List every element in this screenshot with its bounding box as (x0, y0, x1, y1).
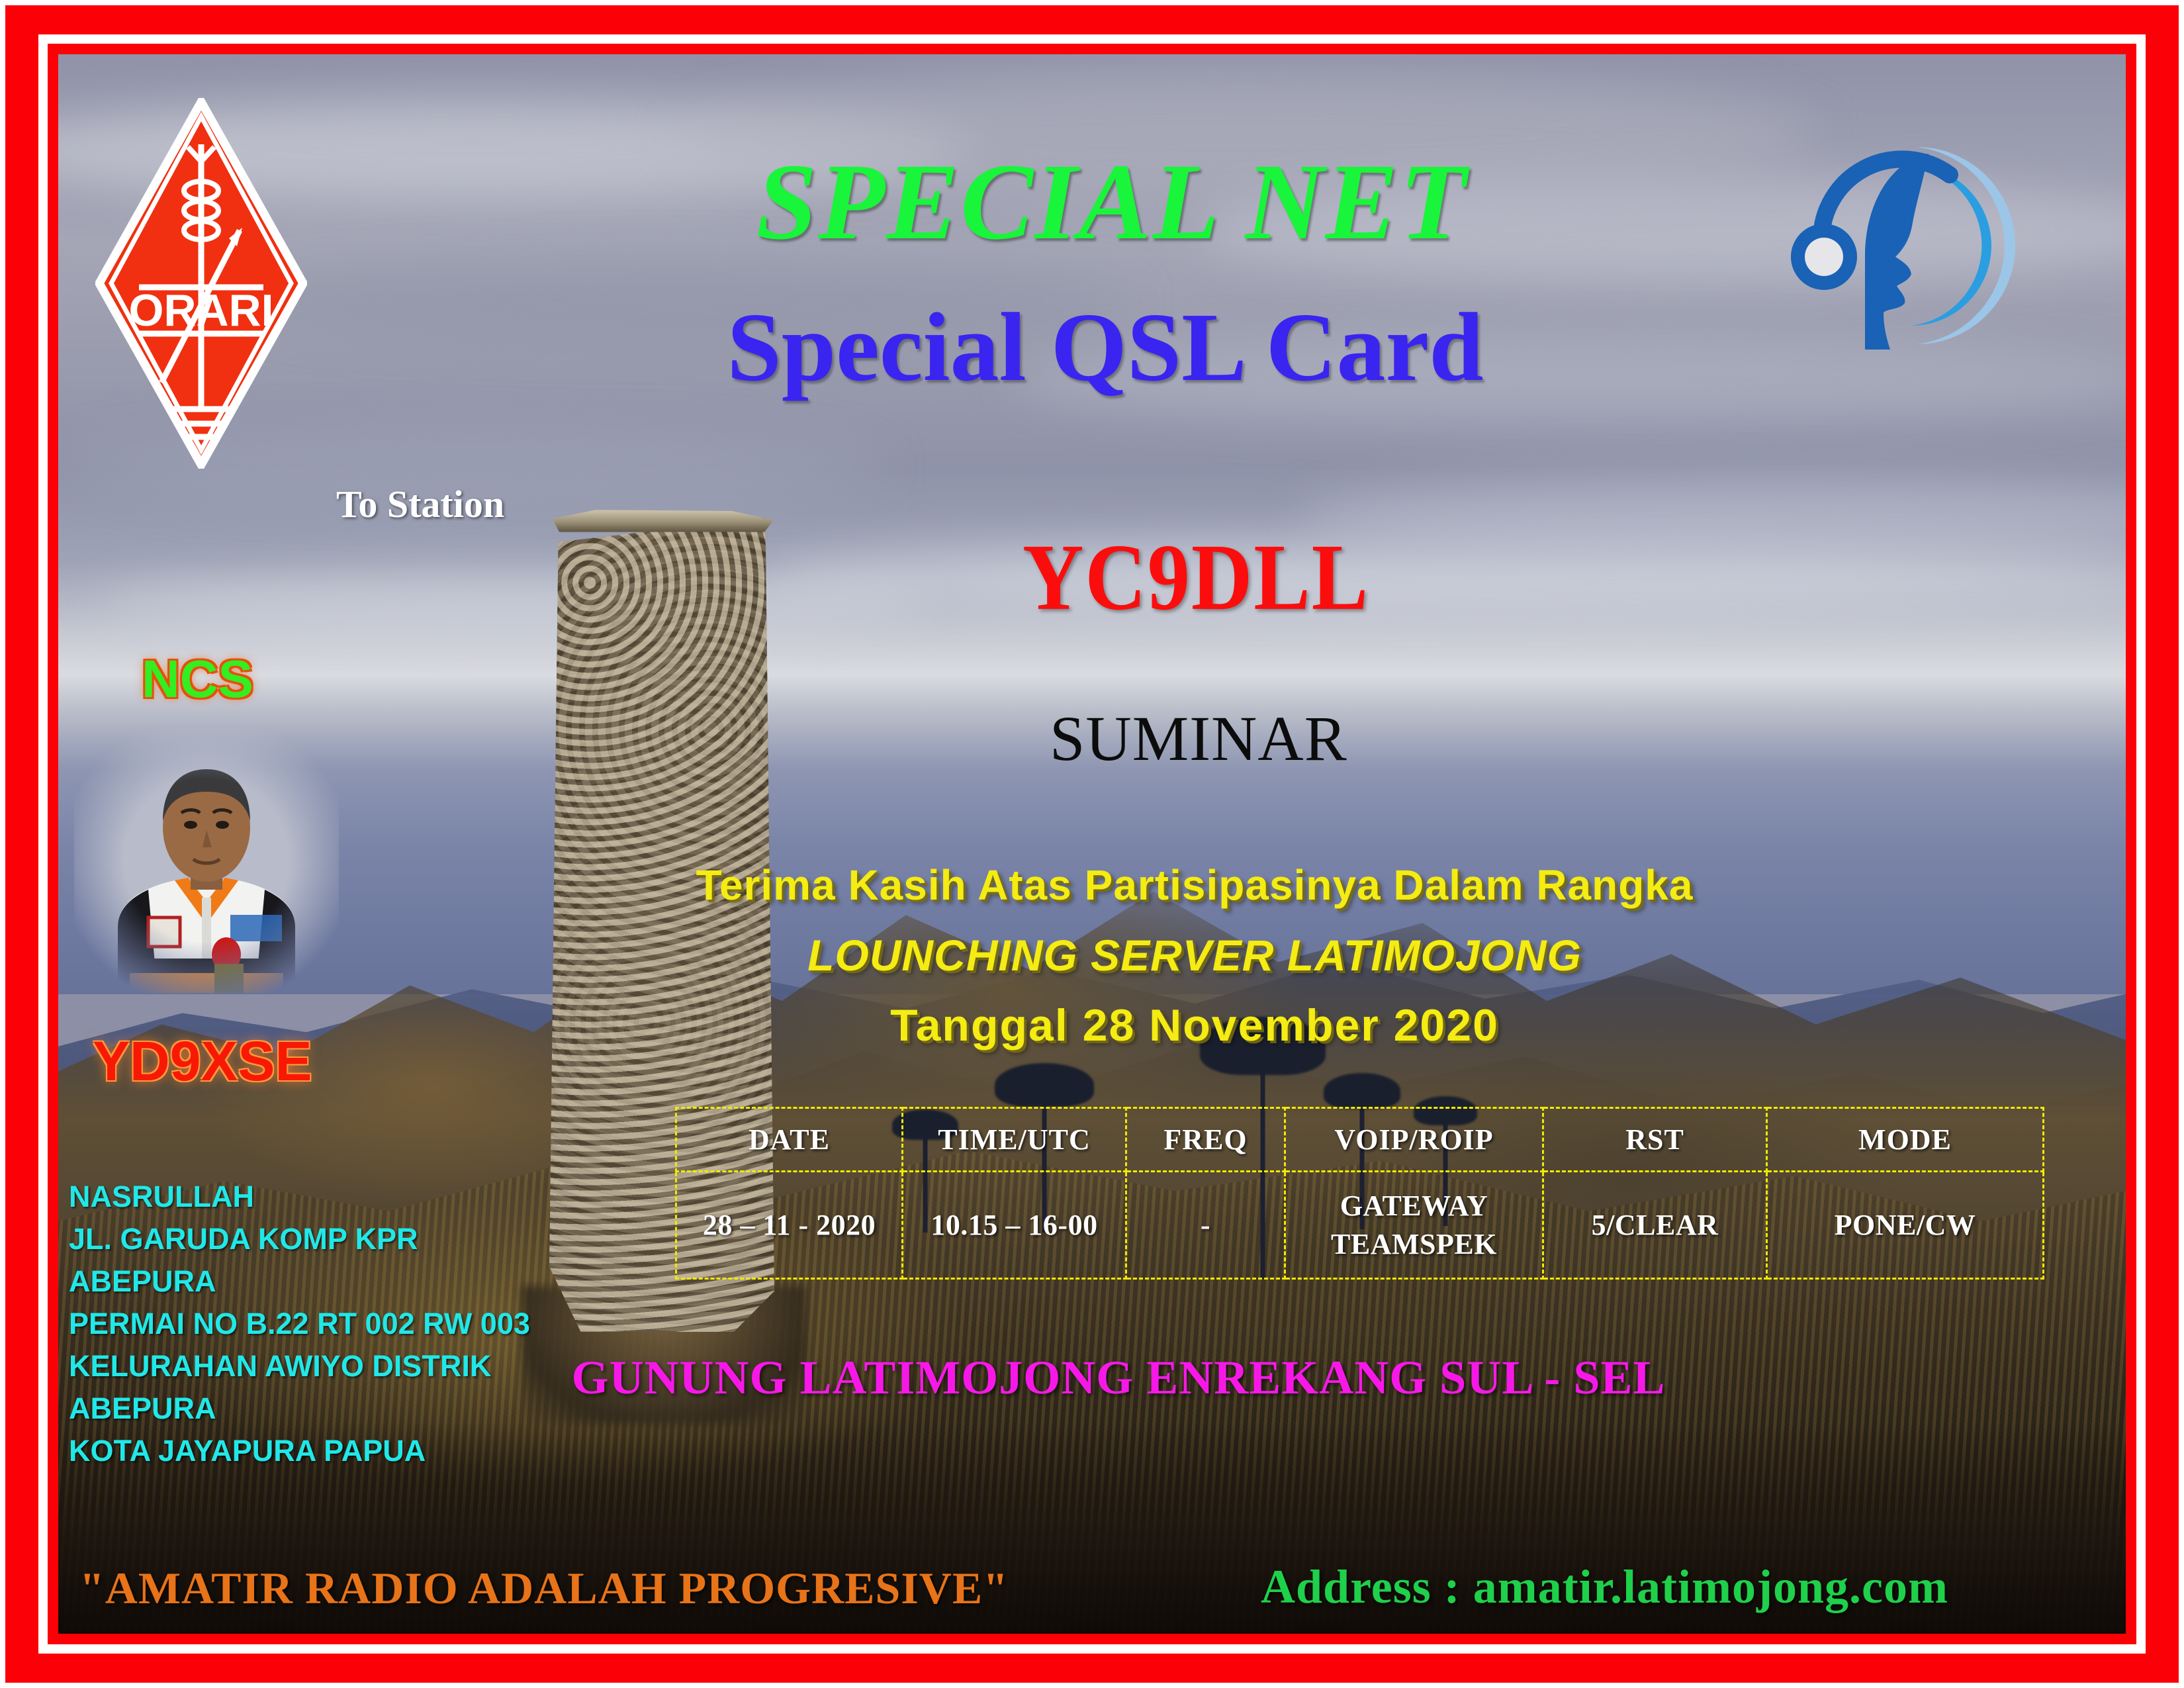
cell-date: 28 – 11 - 2020 (676, 1172, 903, 1279)
address-block: NASRULLAH JL. GARUDA KOMP KPR ABEPURA PE… (69, 1176, 530, 1472)
cloud (99, 571, 927, 631)
address-line: KOTA JAYAPURA PAPUA (69, 1430, 530, 1472)
table-header-row: DATE TIME/UTC FREQ VOIP/ROIP RST MODE (676, 1108, 2044, 1172)
table-row: 28 – 11 - 2020 10.15 – 16-00 - GATEWAY T… (676, 1172, 2044, 1279)
column-header-rst: RST (1543, 1108, 1767, 1172)
address-line: ABEPURA (69, 1260, 530, 1303)
thanks-line-1: Terima Kasih Atas Partisipasinya Dalam R… (0, 861, 2184, 910)
cell-rst: 5/CLEAR (1543, 1172, 1767, 1279)
address-line: PERMAI NO B.22 RT 002 RW 003 (69, 1303, 530, 1345)
footer-motto: "AMATIR RADIO ADALAH PROGRESIVE" (79, 1562, 1009, 1615)
cell-voip-line1: GATEWAY (1286, 1187, 1542, 1225)
cell-voip-line2: TEAMSPEK (1286, 1225, 1542, 1264)
qsl-card: ORARI SPECIAL NET Specia (0, 0, 2184, 1688)
operator-name: SUMINAR (1050, 702, 1347, 775)
qso-log-table: DATE TIME/UTC FREQ VOIP/ROIP RST MODE 28… (675, 1107, 2044, 1280)
column-header-mode: MODE (1767, 1108, 2044, 1172)
page-title: SPECIAL NET (0, 139, 2184, 265)
event-location: GUNUNG LATIMOJONG ENREKANG SUL - SEL (0, 1350, 2184, 1405)
cell-freq: - (1126, 1172, 1285, 1279)
footer-web-address: Address : amatir.latimojong.com (1261, 1560, 1948, 1615)
cell-time: 10.15 – 16-00 (903, 1172, 1126, 1279)
address-line: JL. GARUDA KOMP KPR (69, 1218, 530, 1260)
address-line: NASRULLAH (69, 1176, 530, 1218)
page-subtitle: Special QSL Card (0, 291, 2184, 404)
station-callsign: YC9DLL (1023, 523, 1369, 632)
column-header-date: DATE (676, 1108, 903, 1172)
thanks-line-2: LOUNCHING SERVER LATIMOJONG (0, 930, 2184, 980)
ncs-label: NCS (142, 649, 253, 710)
thanks-line-3: Tanggal 28 November 2020 (0, 1000, 2184, 1051)
column-header-voip: VOIP/ROIP (1285, 1108, 1543, 1172)
cell-mode: PONE/CW (1767, 1172, 2044, 1279)
cell-voip: GATEWAY TEAMSPEK (1285, 1172, 1543, 1279)
to-station-label: To Station (336, 482, 504, 526)
column-header-time: TIME/UTC (903, 1108, 1126, 1172)
column-header-freq: FREQ (1126, 1108, 1285, 1172)
